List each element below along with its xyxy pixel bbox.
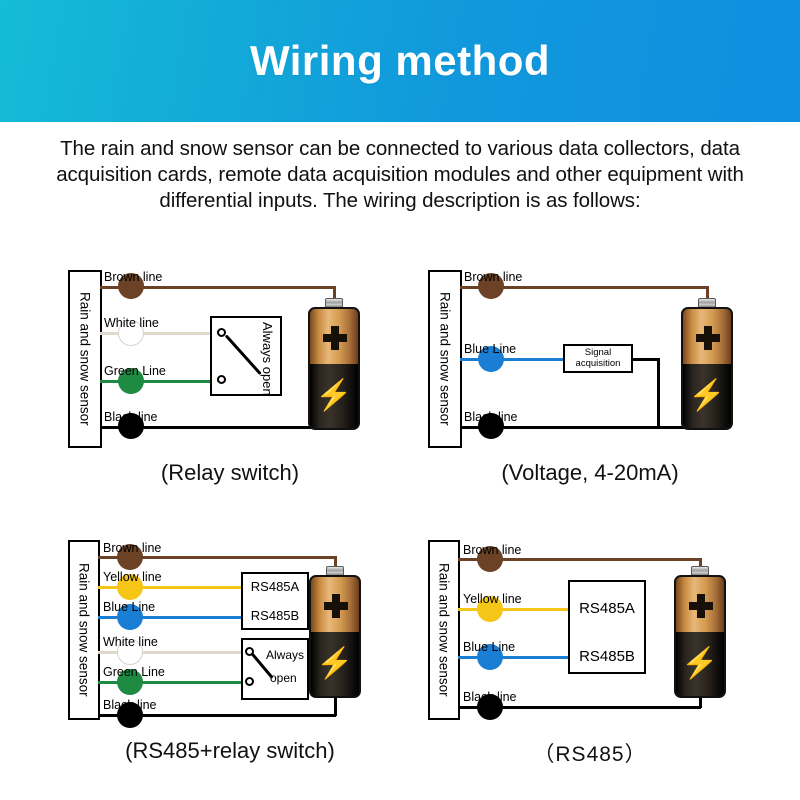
wire-green	[100, 380, 212, 383]
wire-label-black: Black line	[103, 699, 157, 712]
battery-bolt-icon: ⚡	[311, 649, 359, 679]
wire-label-black: Black line	[463, 691, 517, 704]
relay-contact-bottom	[217, 375, 226, 384]
diagram-rs485: Rain and snow sensor Brown line Yellow l…	[420, 526, 760, 781]
wire-label-blue: Blue Line	[463, 641, 515, 654]
diagram-voltage-4-20ma: Rain and snow sensor Brown line Blue Lin…	[420, 258, 760, 508]
diagram-relay-switch: Rain and snow sensor Brown line White li…	[60, 258, 400, 508]
battery-body: ⚡	[681, 307, 733, 430]
signal-acquisition-line2: acquisition	[563, 359, 633, 370]
signal-box-output-riser	[657, 358, 660, 428]
rs485b-label: RS485B	[241, 609, 309, 624]
battery: ⚡	[674, 566, 726, 698]
relay-label-line1: Always	[266, 649, 304, 663]
wire-label-brown: Brown line	[104, 271, 162, 284]
battery-bolt-icon: ⚡	[676, 649, 724, 679]
wire-blue	[460, 358, 565, 361]
diagram-caption: (Voltage, 4-20mA)	[420, 460, 760, 486]
sensor-box: Rain and snow sensor	[68, 270, 102, 448]
signal-box-output-wire	[631, 358, 659, 361]
relay-box-label: Always open	[260, 322, 275, 396]
diagram-canvas: Rain and snow sensor Brown line Yellow l…	[420, 526, 760, 731]
sensor-box-label: Rain and snow sensor	[437, 563, 452, 697]
wire-label-black: Black line	[104, 411, 158, 424]
battery-bolt-icon: ⚡	[683, 381, 731, 411]
battery-body: ⚡	[308, 307, 360, 430]
battery-body: ⚡	[309, 575, 361, 698]
page-header: Wiring method	[0, 0, 800, 122]
wire-label-brown: Brown line	[464, 271, 522, 284]
sensor-box: Rain and snow sensor	[428, 540, 460, 720]
wire-label-blue: Blue Line	[103, 601, 155, 614]
wire-label-black: Black line	[464, 411, 518, 424]
diagram-canvas: Rain and snow sensor Brown line Blue Lin…	[420, 258, 760, 463]
rs485a-label: RS485A	[568, 600, 646, 617]
intro-paragraph: The rain and snow sensor can be connecte…	[52, 136, 748, 215]
wire-label-green: Green Line	[103, 666, 165, 679]
page-title: Wiring method	[250, 40, 550, 82]
sensor-box: Rain and snow sensor	[68, 540, 100, 720]
diagram-rs485-plus-relay-switch: Rain and snow sensor Brown line Yellow l…	[60, 526, 400, 781]
wire-label-brown: Brown line	[103, 542, 161, 555]
diagram-canvas: Rain and snow sensor Brown line White li…	[60, 258, 400, 463]
battery: ⚡	[681, 298, 733, 430]
wire-label-yellow: Yellow line	[463, 593, 522, 606]
relay-label-line2: open	[270, 672, 297, 686]
wire-yellow	[458, 608, 570, 611]
battery-plus-icon-vertical	[697, 594, 705, 618]
battery-plus-icon-vertical	[331, 326, 339, 350]
diagram-canvas: Rain and snow sensor Brown line Yellow l…	[60, 526, 400, 731]
sensor-box-label: Rain and snow sensor	[77, 563, 92, 697]
sensor-box-label: Rain and snow sensor	[78, 292, 93, 426]
battery: ⚡	[308, 298, 360, 430]
sensor-box-label: Rain and snow sensor	[438, 292, 453, 426]
wire-label-green: Green Line	[104, 365, 166, 378]
relay-contact-bottom	[245, 677, 254, 686]
diagram-caption: （RS485）	[420, 738, 760, 768]
wiring-diagram-grid: Rain and snow sensor Brown line White li…	[0, 258, 800, 788]
battery-plus-icon-vertical	[332, 594, 340, 618]
wire-label-yellow: Yellow line	[103, 571, 162, 584]
battery-body: ⚡	[674, 575, 726, 698]
diagram-caption: (RS485+relay switch)	[60, 738, 400, 764]
battery-bolt-icon: ⚡	[310, 381, 358, 411]
wire-white	[100, 332, 212, 335]
wire-label-white: White line	[103, 636, 158, 649]
wire-blue	[458, 656, 570, 659]
battery-plus-icon-vertical	[704, 326, 712, 350]
diagram-caption: (Relay switch)	[60, 460, 400, 486]
rs485b-label: RS485B	[568, 648, 646, 665]
battery: ⚡	[309, 566, 361, 698]
wire-label-blue: Blue Line	[464, 343, 516, 356]
wire-label-white: White line	[104, 317, 159, 330]
rs485a-label: RS485A	[241, 580, 309, 595]
wire-label-brown: Brown line	[463, 544, 521, 557]
sensor-box: Rain and snow sensor	[428, 270, 462, 448]
